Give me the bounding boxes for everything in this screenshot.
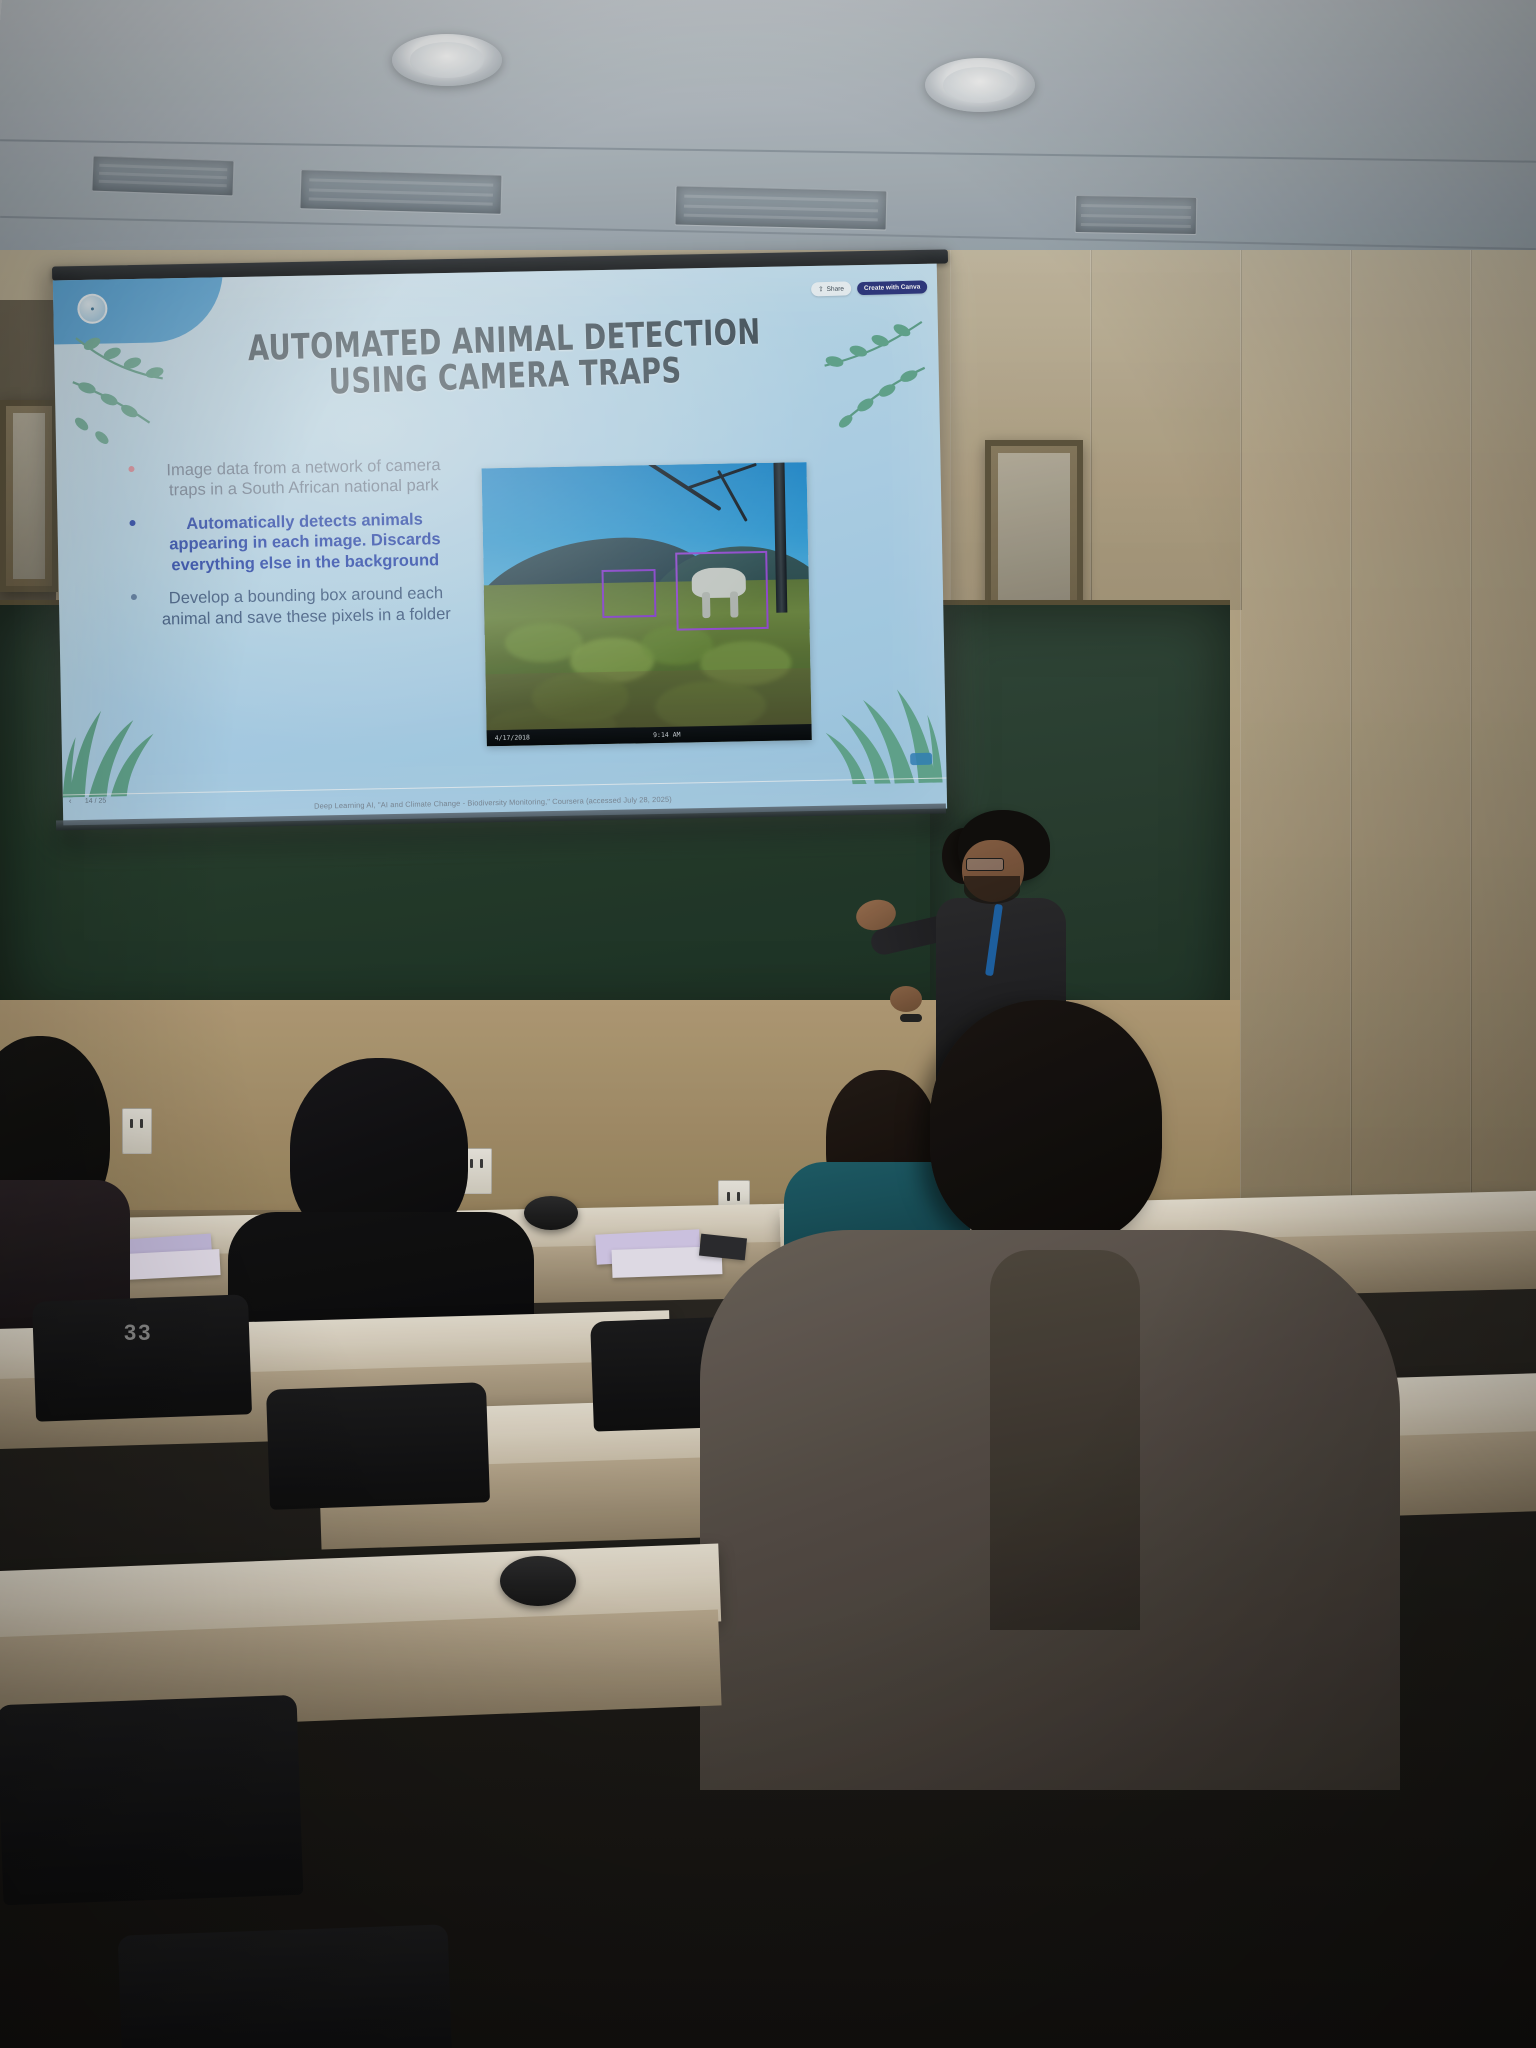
- slide-footer-divider: [63, 777, 947, 795]
- chair-number-label: 33: [124, 1320, 152, 1346]
- share-button[interactable]: ⇪ Share: [811, 281, 851, 296]
- chair-back[interactable]: [118, 1924, 453, 2048]
- audience-jacket-collar: [990, 1250, 1140, 1630]
- share-icon: ⇪: [818, 285, 824, 293]
- share-label: Share: [826, 285, 844, 292]
- glasses-icon: [966, 858, 1004, 871]
- chair-back[interactable]: [0, 1695, 303, 1905]
- desk-microphone[interactable]: [500, 1556, 576, 1606]
- wall-panel: [1240, 250, 1352, 1330]
- slide-title: AUTOMATED ANIMAL DETECTION USING CAMERA …: [246, 315, 762, 403]
- slide-bullet-list: Image data from a network of camera trap…: [120, 455, 463, 644]
- detection-bounding-box: [602, 569, 657, 618]
- desk-microphone[interactable]: [524, 1196, 578, 1230]
- bullet-dot-icon: [128, 466, 134, 472]
- desk-remote[interactable]: [699, 1234, 747, 1261]
- lecture-hall-photo: ●: [0, 0, 1536, 2048]
- bullet-text: Image data from a network of camera trap…: [166, 456, 441, 500]
- ceiling-air-vent: [1075, 195, 1198, 235]
- chair-back[interactable]: [266, 1382, 490, 1510]
- camera-trap-photo: 4/17/2018 9:14 AM: [482, 462, 812, 746]
- ceiling-downlight: [392, 34, 502, 86]
- bullet-dot-icon: [129, 520, 135, 526]
- wall-panel: [1470, 250, 1536, 1330]
- slide-page-number: 14 / 25: [85, 798, 107, 805]
- ceiling-downlight: [925, 58, 1035, 112]
- audience-head-foreground: [930, 1000, 1162, 1246]
- presenter-wristwatch: [900, 1014, 922, 1022]
- slide-bullet-item: Automatically detects animals appearing …: [121, 509, 462, 577]
- bullet-text: Automatically detects animals appearing …: [169, 510, 441, 574]
- ceiling-air-vent: [299, 169, 502, 215]
- leaf-branch-decor-icon: [70, 326, 202, 458]
- canva-logo-icon: [910, 753, 932, 765]
- slide-bullet-item: Develop a bounding box around each anima…: [123, 583, 464, 630]
- ceiling-air-vent: [91, 156, 234, 197]
- chair-back[interactable]: [32, 1294, 252, 1421]
- slide-prev-arrow-icon[interactable]: ‹: [69, 796, 72, 805]
- wall-panel: [1090, 250, 1242, 610]
- presenter-hand: [890, 986, 922, 1012]
- grass-decor-icon: [60, 675, 192, 797]
- wall-panel: [1350, 250, 1472, 1330]
- photo-date: 4/17/2018: [495, 733, 530, 742]
- create-with-canva-label: Create with Canva: [864, 283, 921, 291]
- create-with-canva-button[interactable]: Create with Canva: [857, 280, 928, 295]
- leaf-branch-decor-icon: [776, 316, 928, 449]
- canva-toolbar[interactable]: ⇪ Share Create with Canva: [811, 279, 927, 296]
- projection-screen: ●: [53, 264, 947, 826]
- presenter-beard: [964, 876, 1020, 904]
- bullet-dot-icon: [131, 594, 137, 600]
- wall-outlet: [122, 1108, 152, 1154]
- ceiling-air-vent: [675, 185, 888, 230]
- slide-bullet-item: Image data from a network of camera trap…: [120, 455, 461, 502]
- photo-time: 9:14 AM: [653, 731, 681, 740]
- bullet-text: Develop a bounding box around each anima…: [162, 584, 451, 628]
- grass-decor-icon: [790, 653, 942, 786]
